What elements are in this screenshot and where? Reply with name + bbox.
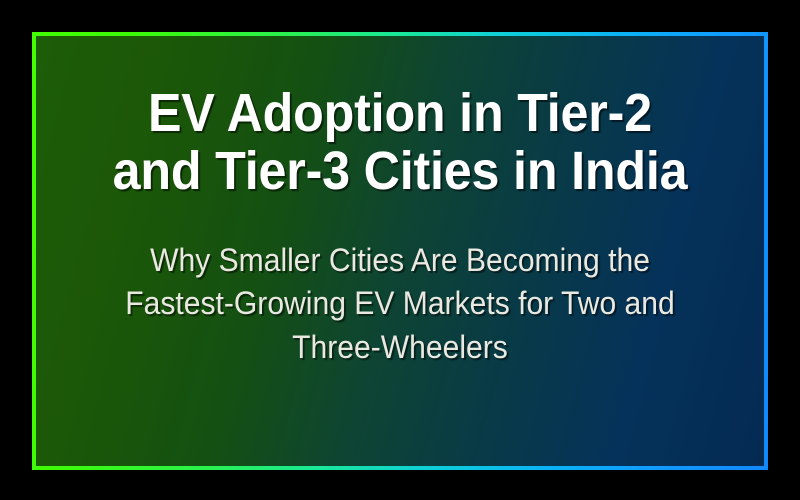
title-card-frame: EV Adoption in Tier-2 and Tier-3 Cities … <box>32 32 768 470</box>
slide-root: EV Adoption in Tier-2 and Tier-3 Cities … <box>0 0 800 500</box>
slide-title: EV Adoption in Tier-2 and Tier-3 Cities … <box>75 36 726 201</box>
title-card-content: EV Adoption in Tier-2 and Tier-3 Cities … <box>36 36 764 369</box>
title-card-surface: EV Adoption in Tier-2 and Tier-3 Cities … <box>36 36 764 466</box>
slide-subtitle: Why Smaller Cities Are Becoming the Fast… <box>71 201 729 370</box>
